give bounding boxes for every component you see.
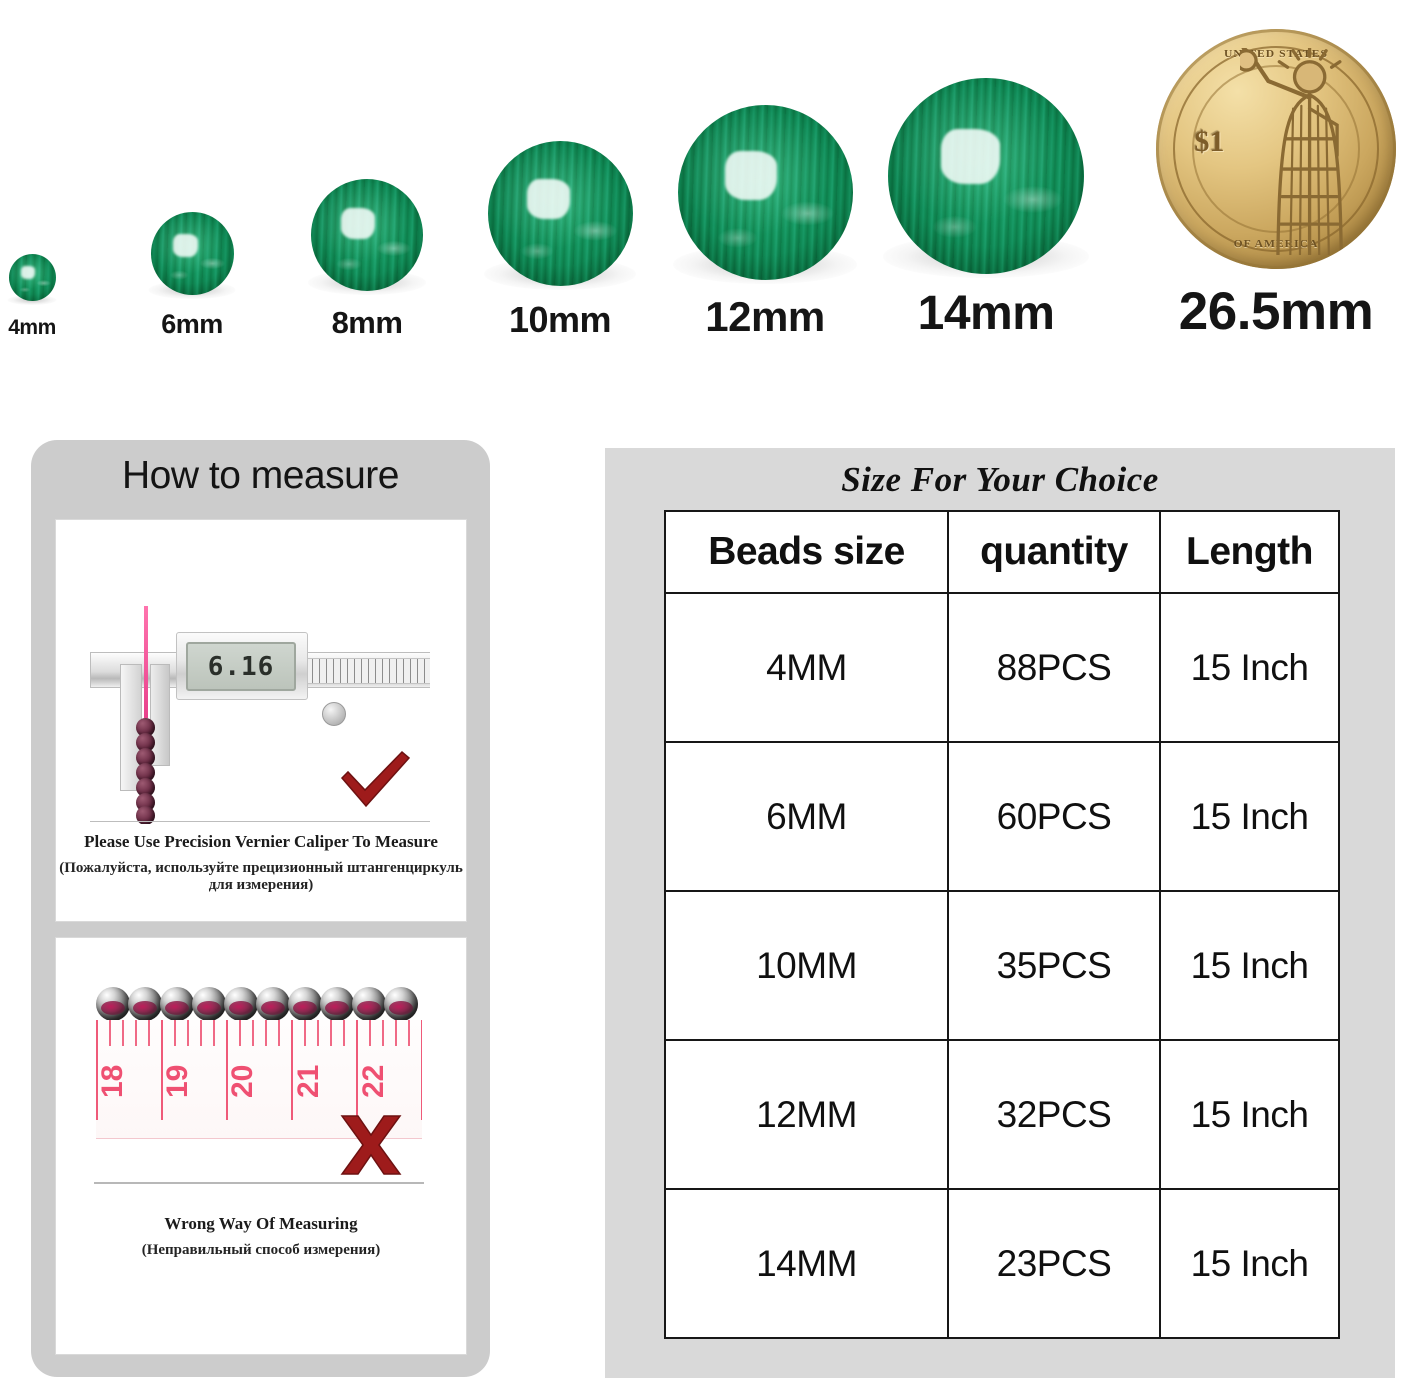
cell-quantity: 32PCS bbox=[948, 1040, 1160, 1189]
cell-beads-size: 4MM bbox=[665, 593, 948, 742]
table-header-row: Beads size quantity Length bbox=[665, 511, 1339, 593]
check-mark-icon bbox=[338, 750, 412, 808]
malachite-bead-graphic bbox=[311, 23, 423, 291]
bead-size-label: 14mm bbox=[918, 290, 1055, 338]
size-table-title: Size For Your Choice bbox=[605, 460, 1395, 500]
correct-caption-en: Please Use Precision Vernier Caliper To … bbox=[56, 832, 466, 852]
bead-size-item: UNITED STATESOF AMERICA$126.5mm bbox=[1156, 1, 1396, 338]
tape-number: 22 bbox=[357, 1050, 422, 1112]
cell-quantity: 60PCS bbox=[948, 742, 1160, 891]
tape-number: 19 bbox=[161, 1050, 226, 1112]
caliper-scale bbox=[304, 658, 430, 684]
cell-length: 15 Inch bbox=[1160, 593, 1339, 742]
bead-string-thread bbox=[144, 606, 148, 718]
wrong-caption-en: Wrong Way Of Measuring bbox=[56, 1214, 466, 1234]
malachite-bead-graphic bbox=[678, 12, 853, 280]
malachite-bead bbox=[311, 179, 423, 291]
malachite-bead-graphic bbox=[9, 33, 56, 301]
cell-quantity: 88PCS bbox=[948, 593, 1160, 742]
cross-mark-icon bbox=[340, 1114, 402, 1176]
dollar-coin-graphic: UNITED STATESOF AMERICA$1 bbox=[1156, 1, 1396, 269]
bead-size-label: 26.5mm bbox=[1179, 285, 1373, 338]
column-header-beads-size: Beads size bbox=[665, 511, 948, 593]
cell-quantity: 35PCS bbox=[948, 891, 1160, 1040]
bead-size-comparison-row: 4mm6mm8mm10mm12mm14mmUNITED STATESOF AME… bbox=[0, 0, 1414, 350]
table-row: 10MM35PCS15 Inch bbox=[665, 891, 1339, 1040]
tape-number: 18 bbox=[96, 1050, 161, 1112]
statue-of-liberty-icon bbox=[1240, 48, 1379, 254]
bead-size-label: 12mm bbox=[705, 296, 824, 338]
cell-length: 15 Inch bbox=[1160, 1189, 1339, 1338]
vernier-caliper-photo: 6.16 bbox=[90, 606, 430, 824]
size-table: Beads size quantity Length 4MM88PCS15 In… bbox=[664, 510, 1340, 1339]
photo-baseline bbox=[94, 1182, 424, 1184]
bead-size-label: 10mm bbox=[509, 302, 611, 338]
table-row: 4MM88PCS15 Inch bbox=[665, 593, 1339, 742]
table-row: 14MM23PCS15 Inch bbox=[665, 1189, 1339, 1338]
malachite-bead bbox=[9, 254, 56, 301]
metal-bead-strand bbox=[96, 986, 422, 1022]
table-row: 6MM60PCS15 Inch bbox=[665, 742, 1339, 891]
caliper-display: 6.16 bbox=[186, 642, 296, 691]
bead-size-item: 14mm bbox=[866, 6, 1106, 338]
bead-size-item: 10mm bbox=[440, 18, 680, 338]
cell-beads-size: 14MM bbox=[665, 1189, 948, 1338]
column-header-quantity: quantity bbox=[948, 511, 1160, 593]
malachite-bead bbox=[488, 141, 633, 286]
malachite-bead bbox=[888, 78, 1084, 274]
malachite-bead-graphic bbox=[488, 18, 633, 286]
cell-beads-size: 12MM bbox=[665, 1040, 948, 1189]
tape-number: 20 bbox=[226, 1050, 291, 1112]
cell-length: 15 Inch bbox=[1160, 1040, 1339, 1189]
column-header-length: Length bbox=[1160, 511, 1339, 593]
malachite-bead bbox=[151, 212, 234, 295]
caliper-display-value: 6.16 bbox=[208, 652, 275, 682]
correct-measure-card: 6.16 Please Use Precision Vernier Calipe… bbox=[55, 519, 467, 922]
table-row: 12MM32PCS15 Inch bbox=[665, 1040, 1339, 1189]
malachite-bead-graphic bbox=[888, 6, 1084, 274]
caliper-thumb-wheel bbox=[322, 702, 346, 726]
cell-beads-size: 10MM bbox=[665, 891, 948, 1040]
photo-baseline bbox=[90, 821, 430, 822]
bead-size-label: 6mm bbox=[161, 311, 223, 338]
cell-length: 15 Inch bbox=[1160, 891, 1339, 1040]
bead-strand-measured bbox=[134, 718, 158, 824]
bead-size-item: 12mm bbox=[645, 12, 885, 338]
tape-measure-photo: 18 19 20 21 22 bbox=[94, 984, 424, 1184]
size-for-your-choice-panel: Size For Your Choice Beads size quantity… bbox=[605, 448, 1395, 1378]
malachite-bead bbox=[678, 105, 853, 280]
cell-length: 15 Inch bbox=[1160, 742, 1339, 891]
how-to-measure-panel: How to measure 6.16 Please Use Precision… bbox=[31, 440, 490, 1377]
bead-size-label: 8mm bbox=[332, 307, 403, 338]
us-dollar-coin: UNITED STATESOF AMERICA$1 bbox=[1156, 29, 1396, 269]
malachite-bead-graphic bbox=[151, 27, 234, 295]
wrong-caption-ru: (Неправильный способ измерения) bbox=[56, 1242, 466, 1259]
coin-denomination: $1 bbox=[1194, 125, 1224, 159]
cell-quantity: 23PCS bbox=[948, 1189, 1160, 1338]
correct-caption-ru: (Пожалуйста, используйте прецизионный шт… bbox=[56, 860, 466, 894]
cell-beads-size: 6MM bbox=[665, 742, 948, 891]
wrong-measure-card: 18 19 20 21 22 Wrong Way Of Measuring (Н… bbox=[55, 937, 467, 1355]
tape-number: 21 bbox=[292, 1050, 357, 1112]
tape-number-labels: 18 19 20 21 22 bbox=[96, 1050, 422, 1112]
bead-size-label: 4mm bbox=[8, 317, 56, 338]
how-to-measure-title: How to measure bbox=[31, 454, 490, 498]
